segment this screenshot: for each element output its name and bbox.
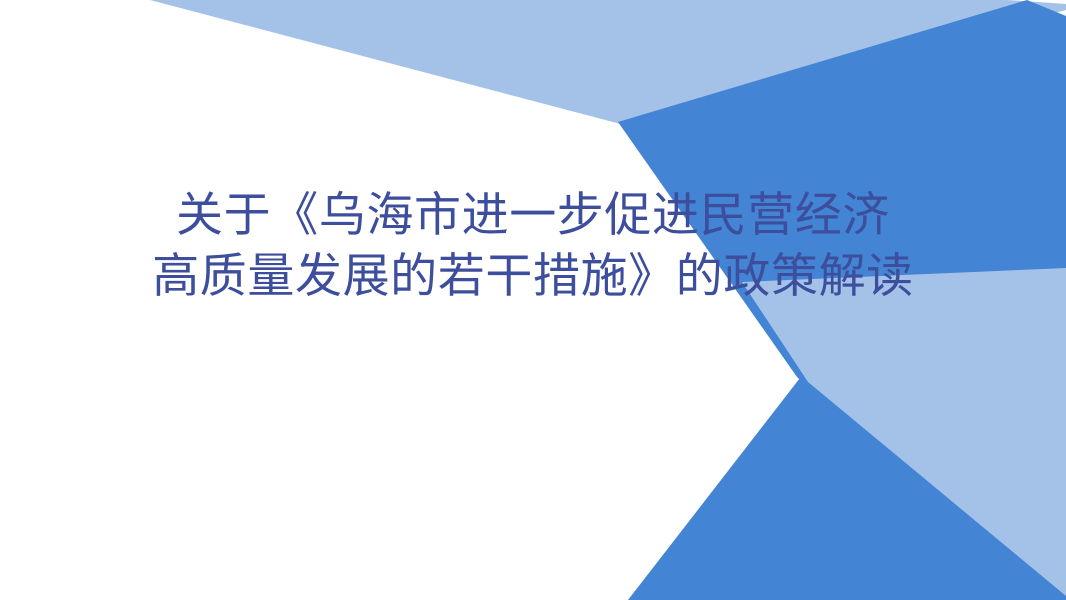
title-slide: 关于《乌海市进一步促进民营经济 高质量发展的若干措施》的政策解读 <box>0 0 1066 600</box>
background-decoration <box>0 0 1066 600</box>
